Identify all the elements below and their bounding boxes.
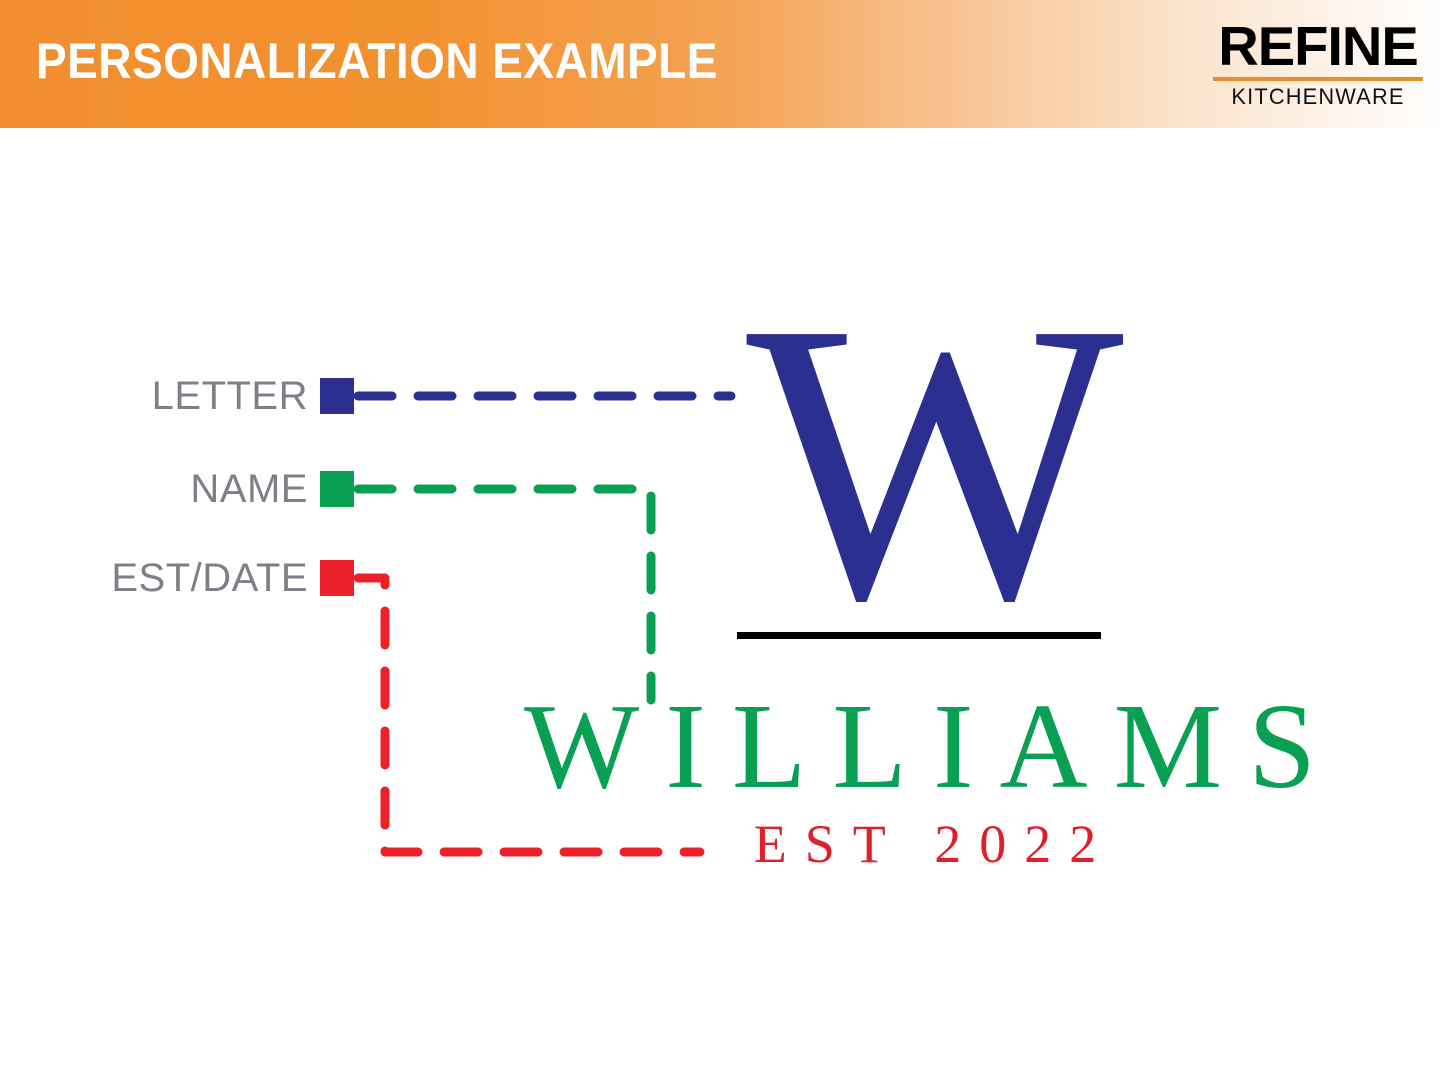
personalization-example-slide: PERSONALIZATION EXAMPLE REFINE KITCHENWA… <box>0 0 1445 1084</box>
logo-wordmark: REFINE <box>1211 20 1425 73</box>
monogram-divider-rule <box>737 632 1101 639</box>
logo-tagline: KITCHENWARE <box>1214 84 1422 110</box>
legend-row-est-date: EST/DATE <box>48 556 354 600</box>
monogram-family-name: WILLIAMS <box>440 686 1400 808</box>
legend-label-name: NAME <box>48 467 308 511</box>
page-title: PERSONALIZATION EXAMPLE <box>36 30 718 92</box>
legend-row-name: NAME <box>48 467 354 511</box>
est-date-swatch-icon <box>320 560 354 596</box>
legend-label-letter: LETTER <box>48 374 308 418</box>
legend-label-est-date: EST/DATE <box>48 556 308 600</box>
name-swatch-icon <box>320 471 354 507</box>
legend-row-letter: LETTER <box>48 374 354 418</box>
monogram-initial: W <box>700 292 1170 632</box>
header-bar: PERSONALIZATION EXAMPLE REFINE KITCHENWA… <box>0 0 1445 128</box>
letter-swatch-icon <box>320 378 354 414</box>
name-connector-line <box>358 489 651 700</box>
monogram-established-date: EST 2022 <box>700 816 1150 872</box>
logo-divider-rule <box>1213 77 1423 81</box>
brand-logo: REFINE KITCHENWARE <box>1213 20 1423 110</box>
